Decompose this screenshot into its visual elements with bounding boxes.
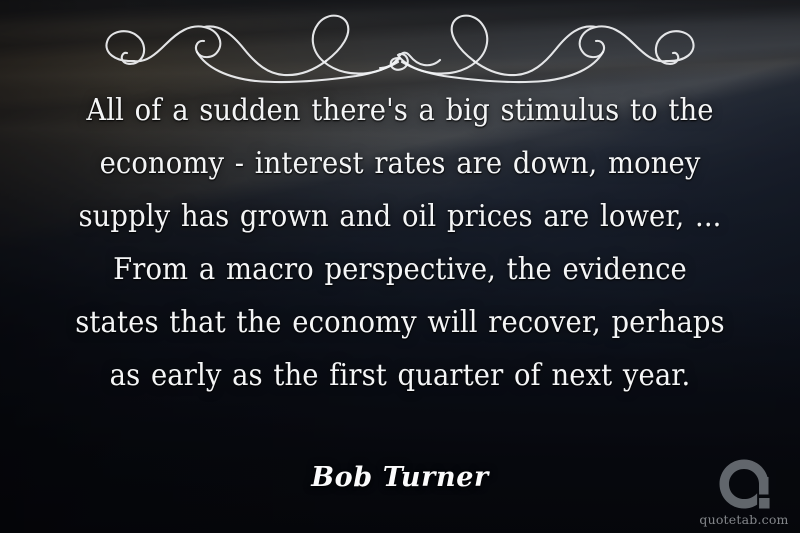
quote-card: All of a sudden there's a big stimulus t…: [0, 0, 800, 533]
flourish-icon: [80, 6, 720, 86]
ornament-divider: [80, 6, 720, 86]
quote-text: All of a sudden there's a big stimulus t…: [67, 84, 733, 402]
author-block: Bob Turner: [0, 462, 800, 493]
quote-block: All of a sudden there's a big stimulus t…: [42, 84, 758, 402]
watermark[interactable]: quotetab.com: [698, 456, 790, 527]
watermark-text: quotetab.com: [698, 513, 790, 527]
author-name[interactable]: Bob Turner: [311, 462, 489, 493]
quotetab-q-logo-icon: [716, 456, 772, 512]
